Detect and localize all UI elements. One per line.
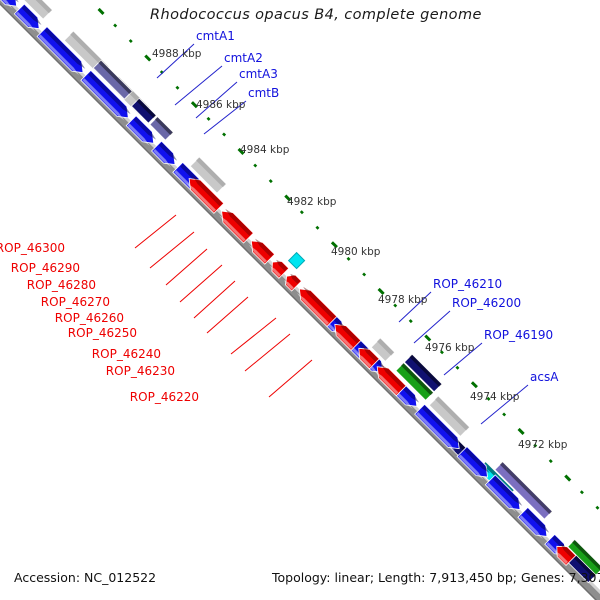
gene-label-leader: [180, 265, 222, 302]
ruler-dot: [223, 133, 225, 135]
gene-feature-cyan-diamond[interactable]: [289, 253, 305, 269]
axis-tick-label: 4986 kbp: [196, 99, 246, 111]
axis-tick-label: 4982 kbp: [287, 196, 337, 208]
ruler-dot: [254, 165, 256, 167]
ruler-dot: [301, 211, 303, 213]
ruler-dot: [550, 460, 552, 462]
gene-label-reverse[interactable]: ROP_46230: [106, 364, 175, 378]
gene-label-leader: [150, 232, 194, 268]
axis-tick-label: 4978 kbp: [378, 294, 428, 306]
ruler-dot: [503, 413, 505, 415]
gene-label-reverse[interactable]: ROP_46260: [55, 311, 124, 325]
ruler-dot: [363, 273, 365, 275]
ruler-dot: [114, 25, 116, 27]
genome-stats-label: Topology: linear; Length: 7,913,450 bp; …: [271, 570, 600, 585]
axis-tick-label: 4988 kbp: [152, 48, 202, 60]
axis-tick-label: 4974 kbp: [470, 391, 520, 403]
gene-label-leader: [194, 281, 235, 318]
accession-label: Accession: NC_012522: [14, 570, 156, 585]
gene-label-forward[interactable]: ROP_46200: [452, 296, 521, 310]
gene-label-leader: [207, 297, 248, 333]
ruler-dot: [596, 507, 598, 509]
gene-label-leader: [414, 311, 450, 343]
gene-label-reverse[interactable]: ROP_46240: [92, 347, 161, 361]
gene-label-reverse[interactable]: ROP_46250: [68, 326, 137, 340]
genome-map-viewport: cmtA1cmtA2cmtA3cmtBROP_46210ROP_46200ROP…: [0, 0, 600, 600]
axis-tick-label: 4972 kbp: [518, 439, 568, 451]
gene-label-forward[interactable]: cmtB: [248, 86, 279, 100]
ruler-dot: [410, 320, 412, 322]
gene-label-forward[interactable]: cmtA1: [196, 29, 235, 43]
ruler-dot: [270, 180, 272, 182]
ruler-dot: [519, 429, 524, 434]
gene-label-reverse[interactable]: ROP_46220: [130, 390, 199, 404]
gene-label-reverse[interactable]: ROP_46270: [41, 295, 110, 309]
gene-label-leader: [135, 215, 176, 248]
forward-gene-labels[interactable]: cmtA1cmtA2cmtA3cmtBROP_46210ROP_46200ROP…: [196, 29, 559, 384]
gene-label-reverse[interactable]: ROP_46280: [27, 278, 96, 292]
ruler-dot: [176, 87, 178, 89]
gene-label-forward[interactable]: acsA: [530, 370, 559, 384]
gene-label-reverse[interactable]: ROP_46290: [11, 261, 80, 275]
gene-label-forward[interactable]: cmtA2: [224, 51, 263, 65]
axis-tick-label: 4984 kbp: [240, 144, 290, 156]
ruler-dot: [130, 40, 132, 42]
ruler-dot: [581, 491, 583, 493]
axis-tick-label: 4980 kbp: [331, 246, 381, 258]
ruler-dot: [565, 476, 570, 481]
ruler-dot: [472, 382, 477, 387]
ruler-dot: [208, 118, 210, 120]
ruler-dot: [145, 56, 150, 61]
axis-tick-labels: 4988 kbp4986 kbp4984 kbp4982 kbp4980 kbp…: [152, 48, 568, 451]
gene-label-forward[interactable]: ROP_46210: [433, 277, 502, 291]
gene-label-forward[interactable]: ROP_46190: [484, 328, 553, 342]
ruler-dot: [348, 258, 350, 260]
ruler-dot: [99, 9, 104, 14]
ruler-dot: [316, 227, 318, 229]
gene-label-leader: [269, 360, 312, 397]
gene-label-leader: [231, 318, 276, 354]
gene-label-reverse[interactable]: ROP_46300: [0, 241, 65, 255]
gene-label-forward[interactable]: cmtA3: [239, 67, 278, 81]
gene-label-leader: [166, 249, 207, 285]
reverse-gene-labels[interactable]: ROP_46300ROP_46290ROP_46280ROP_46270ROP_…: [0, 241, 199, 404]
ruler-dot: [425, 336, 430, 341]
ruler-dot: [456, 367, 458, 369]
gene-label-leader: [245, 334, 290, 371]
axis-tick-label: 4976 kbp: [425, 342, 475, 354]
page-title: Rhodococcus opacus B4, complete genome: [150, 7, 482, 23]
genome-map-canvas[interactable]: cmtA1cmtA2cmtA3cmtBROP_46210ROP_46200ROP…: [0, 0, 600, 600]
